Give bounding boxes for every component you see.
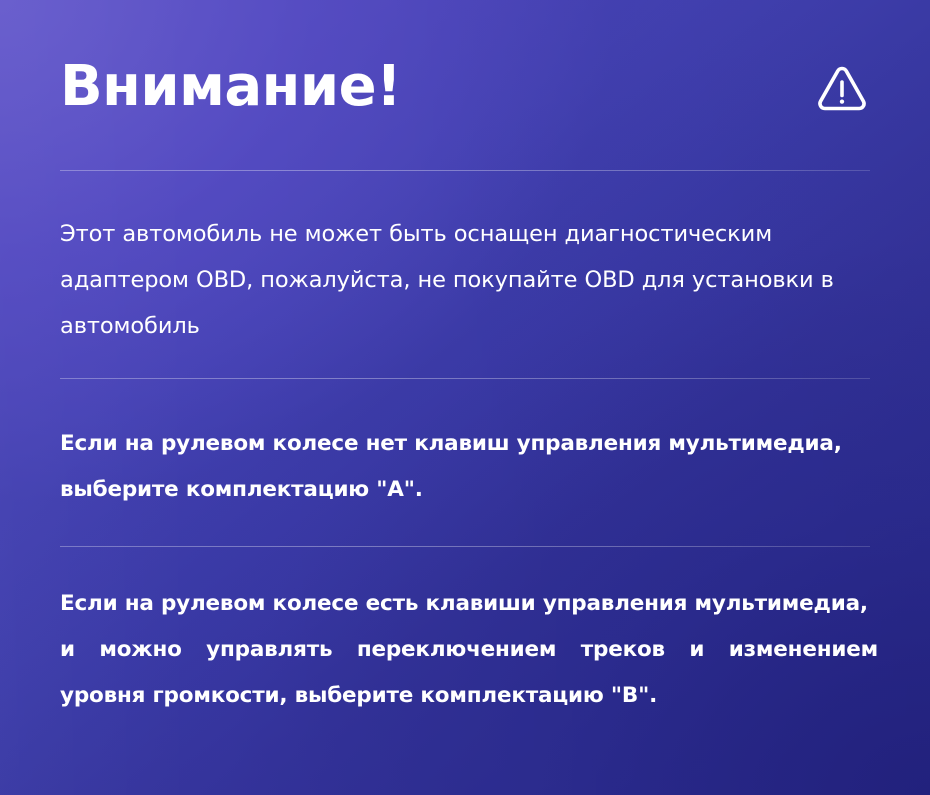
- warning-notice-card: Внимание! Этот автомобиль не может быть …: [0, 0, 930, 795]
- divider-after-title: [60, 170, 870, 171]
- paragraph-line: выберите комплектацию "А".: [60, 467, 878, 513]
- paragraph-line: Если на рулевом колесе нет клавиш управл…: [60, 421, 878, 467]
- divider-after-paragraph-2: [60, 546, 870, 547]
- divider-after-paragraph-1: [60, 378, 870, 379]
- paragraph-line: адаптером OBD, пожалуйста, не покупайте …: [60, 257, 888, 303]
- paragraph-variant-a: Если на рулевом колесе нет клавиш управл…: [60, 421, 878, 513]
- paragraph-line: и можно управлять переключением треков и…: [60, 627, 878, 673]
- paragraph-line: Если на рулевом колесе есть клавиши упра…: [60, 581, 878, 627]
- paragraph-line: уровня громкости, выберите комплектацию …: [60, 673, 878, 719]
- paragraph-line: Этот автомобиль не может быть оснащен ди…: [60, 211, 888, 257]
- page-title: Внимание!: [60, 54, 401, 120]
- card-header: Внимание!: [60, 54, 870, 132]
- warning-triangle-icon: [816, 62, 868, 114]
- paragraph-line: автомобиль: [60, 303, 888, 349]
- paragraph-variant-b: Если на рулевом колесе есть клавиши упра…: [60, 581, 878, 719]
- paragraph-obd-notice: Этот автомобиль не может быть оснащен ди…: [60, 211, 888, 349]
